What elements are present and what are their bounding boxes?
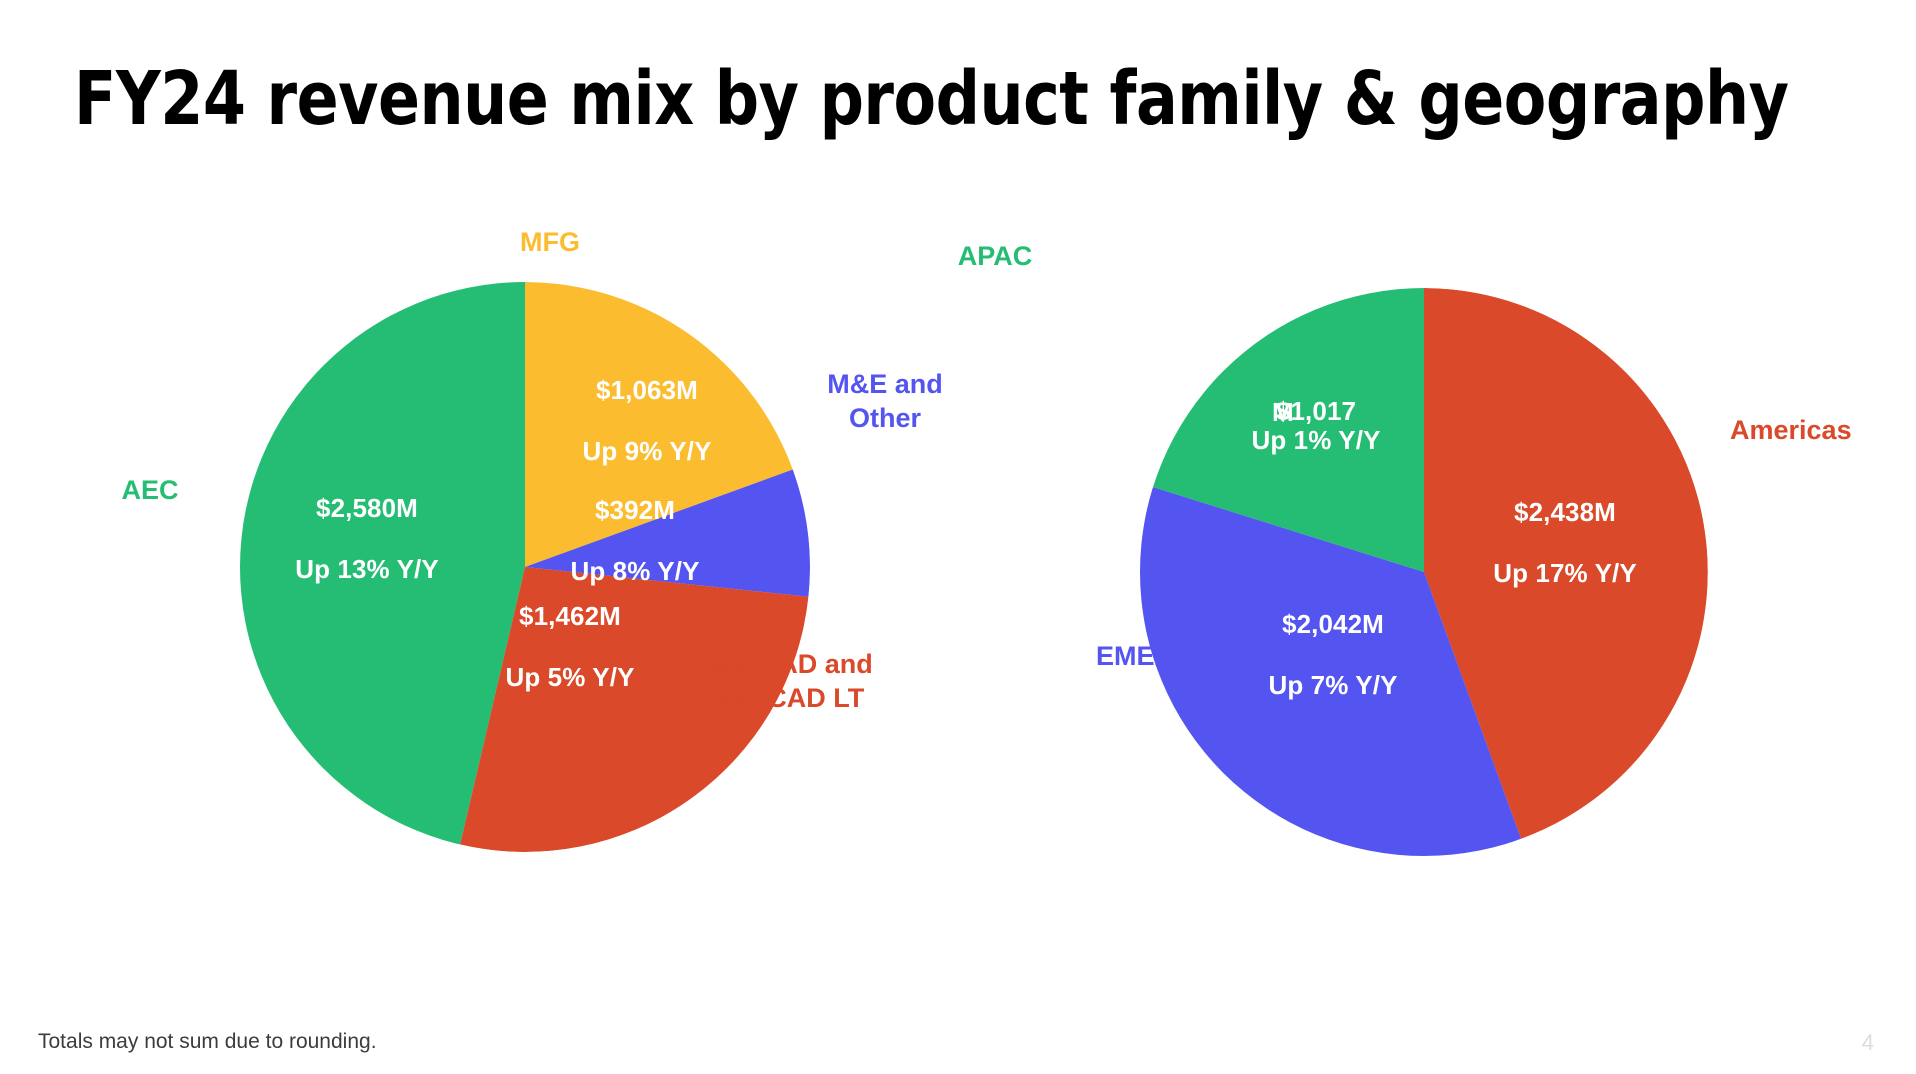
pie-category-label-emea: EMEA: [1055, 640, 1215, 674]
pie-category-label-apac: APAC: [915, 240, 1075, 274]
geography-pie-chart: $1,017 Up 1% Y/Y M $2,438M Up 17% Y/Y $2…: [1140, 288, 1708, 856]
pie-category-label-autocad: AutoCAD and AutoCAD LT: [660, 648, 910, 716]
page-number: 4: [1862, 1030, 1874, 1056]
geography-pie-svg: [1140, 288, 1708, 856]
pie-category-label-americas: Americas: [1730, 414, 1916, 448]
product-family-pie-chart: $1,063M Up 9% Y/Y $392M Up 8% Y/Y $2,580…: [240, 282, 810, 852]
footnote: Totals may not sum due to rounding.: [38, 1030, 377, 1054]
pie-category-label-me-other: M&E and Other: [790, 368, 980, 436]
slide-canvas: FY24 revenue mix by product family & geo…: [0, 0, 1916, 1074]
product-family-pie-svg: [240, 282, 810, 852]
pie-category-label-aec: AEC: [85, 474, 215, 508]
page-title: FY24 revenue mix by product family & geo…: [74, 62, 1748, 137]
pie-category-label-mfg: MFG: [470, 226, 630, 260]
